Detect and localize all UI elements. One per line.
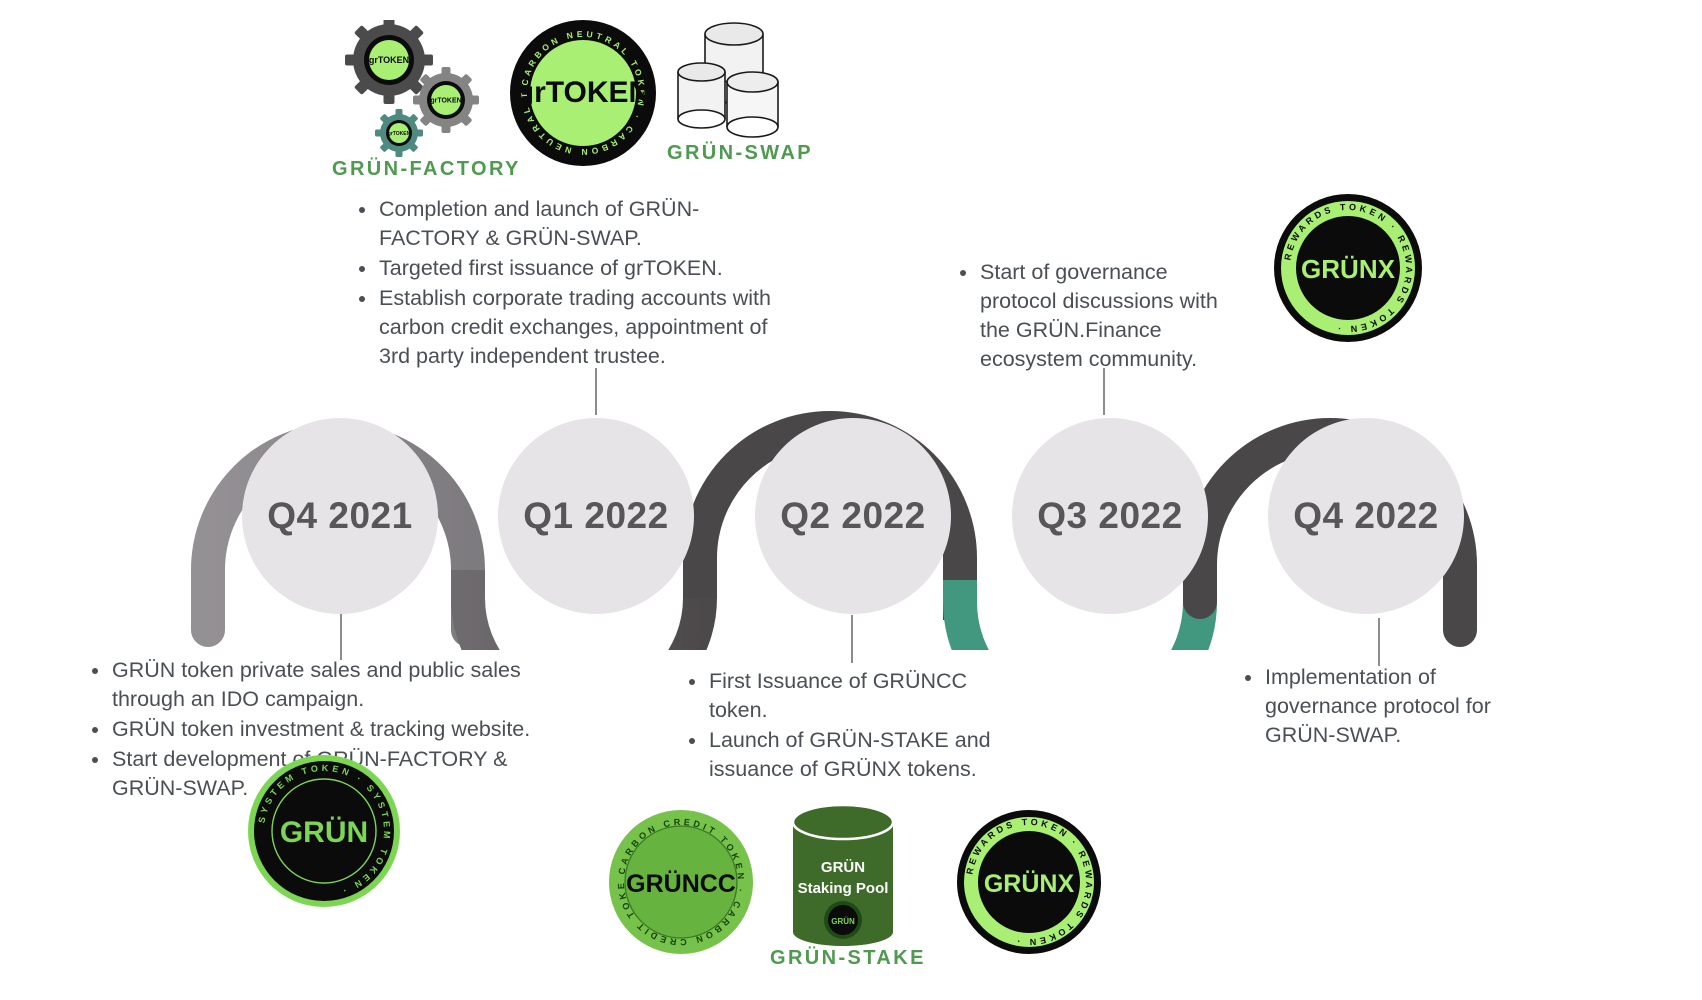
bullet-item: Targeted first issuance of grTOKEN. [357, 254, 777, 283]
bullet-item: Implementation of governance protocol fo… [1243, 663, 1503, 750]
grunx-center-text-bottom: GRÜNX [984, 869, 1075, 898]
node-label-q4-2021: Q4 2021 [267, 495, 412, 537]
roadmap-infographic: Q4 2021 Q1 2022 Q2 2022 Q3 2022 Q4 2022 … [0, 0, 1702, 1000]
text-block-q2-2022: First Issuance of GRÜNCC token. Launch o… [687, 667, 1007, 785]
gruncc-coin-icon: CARBON CREDIT TOKEN · CARBON CREDIT TOKE… [607, 808, 755, 956]
staking-pool-line1: GRÜN [821, 859, 865, 876]
text-block-q3-2022: Start of governance protocol discussions… [958, 258, 1218, 375]
gruncc-center-text: GRÜNCC [626, 869, 736, 898]
bullet-item: Start of governance protocol discussions… [958, 258, 1218, 374]
grunx-center-text-top: GRÜNX [1301, 254, 1396, 284]
grtoken-coin-icon: CARBON NEUTRAL TOKEN · CARBON NEUTRAL TO… [508, 18, 658, 168]
staking-pool-badge: GRÜN [831, 917, 855, 926]
gear-label: grTOKEN [430, 98, 461, 105]
bullet-item: GRÜN token private sales and public sale… [90, 656, 545, 714]
bullet-item: Launch of GRÜN-STAKE and issuance of GRÜ… [687, 726, 1007, 784]
bullet-list-q2-2022: First Issuance of GRÜNCC token. Launch o… [687, 667, 1007, 784]
node-label-q4-2022: Q4 2022 [1293, 495, 1438, 537]
bullet-list-q1-2022: Completion and launch of GRÜN-FACTORY & … [357, 195, 777, 371]
grunx-coin-bottom-icon: REWARDS TOKEN · REWARDS TOKEN · GRÜNX [955, 808, 1103, 956]
gear-label: grTOKEN [369, 55, 409, 65]
timeline-node-q4-2021[interactable]: Q4 2021 [242, 418, 438, 614]
caption-grun-stake: GRÜN-STAKE [770, 947, 926, 970]
staking-pool-line2: Staking Pool [798, 880, 889, 897]
caption-grun-factory: GRÜN-FACTORY [332, 158, 521, 181]
leader-line-q3-2022 [1103, 368, 1105, 415]
node-label-q2-2022: Q2 2022 [780, 495, 925, 537]
text-block-q4-2022: Implementation of governance protocol fo… [1243, 663, 1503, 751]
bullet-list-q4-2022: Implementation of governance protocol fo… [1243, 663, 1503, 750]
bullet-item: Completion and launch of GRÜN-FACTORY & … [357, 195, 777, 253]
timeline-node-q3-2022[interactable]: Q3 2022 [1012, 418, 1208, 614]
leader-line-q4-2021 [340, 612, 342, 660]
grun-coin-icon: SYSTEM TOKEN · SYSTEM TOKEN · GRÜN [246, 753, 402, 909]
bullet-item: First Issuance of GRÜNCC token. [687, 667, 1007, 725]
node-label-q1-2022: Q1 2022 [523, 495, 668, 537]
gear-label: grTOKEN [388, 131, 411, 137]
grunx-coin-top-icon: REWARDS TOKEN · REWARDS TOKEN · GRÜNX [1272, 192, 1424, 344]
timeline-node-q1-2022[interactable]: Q1 2022 [498, 418, 694, 614]
grun-center-text: GRÜN [280, 816, 368, 849]
text-block-q1-2022: Completion and launch of GRÜN-FACTORY & … [357, 195, 777, 372]
timeline-node-q4-2022[interactable]: Q4 2022 [1268, 418, 1464, 614]
bullet-item: GRÜN token investment & tracking website… [90, 715, 545, 744]
node-label-q3-2022: Q3 2022 [1037, 495, 1182, 537]
grtoken-center-text: grTOKEN [516, 76, 650, 109]
bullet-item: Establish corporate trading accounts wit… [357, 284, 777, 371]
bullet-list-q3-2022: Start of governance protocol discussions… [958, 258, 1218, 374]
grun-swap-cylinders-icon [672, 22, 792, 152]
leader-line-q2-2022 [851, 615, 853, 663]
leader-line-q1-2022 [595, 368, 597, 415]
grun-staking-pool-icon: GRÜN Staking Pool GRÜN [783, 800, 903, 950]
timeline-node-q2-2022[interactable]: Q2 2022 [755, 418, 951, 614]
leader-line-q4-2022 [1378, 618, 1380, 666]
grun-factory-gears-icon: grTOKEN grTOKEN [345, 20, 495, 160]
caption-grun-swap: GRÜN-SWAP [667, 142, 813, 165]
